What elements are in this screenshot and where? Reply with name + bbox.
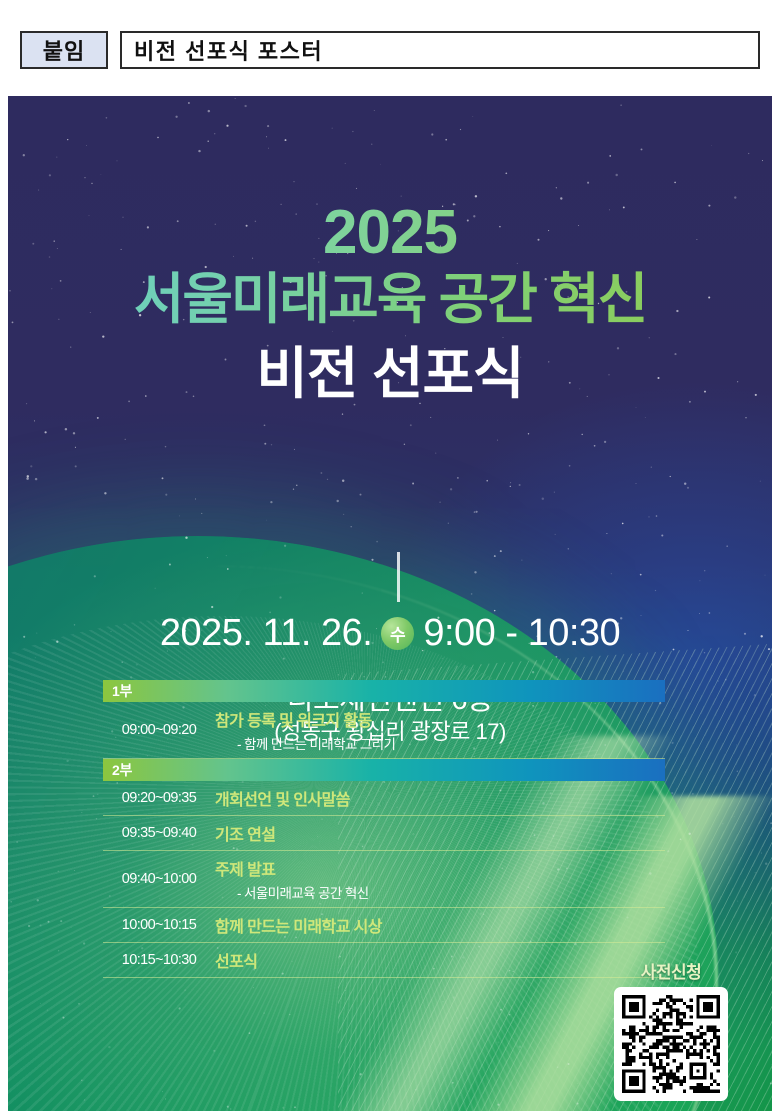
schedule-row-body: 함께 만드는 미래학교 시상 (215, 913, 665, 937)
preregistration-label: 사전신청 (612, 958, 730, 983)
attachment-tag: 붙임 (20, 31, 108, 69)
attachment-tag-label: 붙임 (43, 34, 85, 66)
schedule-row-body: 주제 발표- 서울미래교육 공간 혁신 (215, 856, 665, 902)
schedule-row-title: 기조 연설 (215, 821, 665, 845)
schedule-row-subtitle: - 함께 만드는 미래학교 그리기 (215, 733, 665, 753)
day-of-week-badge: 수 (381, 617, 414, 650)
schedule-row: 09:40~10:00주제 발표- 서울미래교육 공간 혁신 (103, 851, 665, 908)
schedule-row-title: 함께 만드는 미래학교 시상 (215, 913, 665, 937)
day-of-week-label: 수 (390, 621, 406, 646)
schedule-row-title: 개회선언 및 인사말씀 (215, 786, 665, 810)
schedule-row-body: 선포식 (215, 948, 665, 972)
schedule-row-time: 09:40~10:00 (103, 871, 215, 887)
attachment-title-label: 비전 선포식 포스터 (122, 34, 323, 66)
event-poster: 2025 서울미래교육 공간 혁신 비전 선포식 2025. 11. 26. 수… (8, 96, 772, 1111)
schedule-row: 10:00~10:15함께 만드는 미래학교 시상 (103, 908, 665, 943)
schedule-row-body: 참가 등록 및 워크지 활동- 함께 만드는 미래학교 그리기 (215, 707, 665, 753)
schedule-row: 09:20~09:35개회선언 및 인사말씀 (103, 781, 665, 816)
schedule-row-time: 09:00~09:20 (103, 722, 215, 738)
poster-subheadline: 비전 선포식 (8, 342, 772, 406)
schedule-row-body: 개회선언 및 인사말씀 (215, 786, 665, 810)
schedule-row: 09:35~09:40기조 연설 (103, 816, 665, 851)
schedule-row: 09:00~09:20참가 등록 및 워크지 활동- 함께 만드는 미래학교 그… (103, 702, 665, 759)
schedule-section-header: 1부 (103, 680, 665, 702)
poster-year: 2025 (8, 200, 772, 265)
schedule-section-label: 1부 (103, 681, 132, 701)
schedule-row-time: 10:00~10:15 (103, 917, 215, 933)
schedule-row-subtitle: - 서울미래교육 공간 혁신 (215, 882, 665, 902)
schedule-row-body: 기조 연설 (215, 821, 665, 845)
schedule-row-time: 10:15~10:30 (103, 952, 215, 968)
attachment-title-box: 비전 선포식 포스터 (120, 31, 760, 69)
qr-code-container[interactable] (614, 987, 728, 1101)
schedule-row: 10:15~10:30선포식 (103, 943, 665, 978)
schedule-section-header: 2부 (103, 759, 665, 781)
schedule-row-time: 09:20~09:35 (103, 790, 215, 806)
schedule-row-title: 선포식 (215, 948, 665, 972)
title-block: 2025 서울미래교육 공간 혁신 비전 선포식 (8, 96, 772, 406)
event-datetime: 2025. 11. 26. 수 9:00 - 10:30 (8, 612, 772, 655)
schedule-row-title: 참가 등록 및 워크지 활동 (215, 707, 665, 731)
schedule-row-title: 주제 발표 (215, 856, 665, 880)
schedule-row-time: 09:35~09:40 (103, 825, 215, 841)
poster-headline: 서울미래교육 공간 혁신 (8, 267, 772, 332)
poster-page: 붙임 비전 선포식 포스터 2025 서울미래교육 공간 혁신 비전 선포식 2… (0, 0, 780, 1119)
qr-code-icon (622, 995, 720, 1093)
event-schedule: 1부09:00~09:20참가 등록 및 워크지 활동- 함께 만드는 미래학교… (103, 680, 671, 978)
schedule-section-label: 2부 (103, 760, 132, 780)
document-header: 붙임 비전 선포식 포스터 (0, 0, 780, 92)
title-divider (397, 552, 400, 602)
event-time: 9:00 - 10:30 (423, 612, 620, 655)
event-date: 2025. 11. 26. (160, 612, 373, 655)
preregistration-block: 사전신청 (612, 958, 730, 1101)
